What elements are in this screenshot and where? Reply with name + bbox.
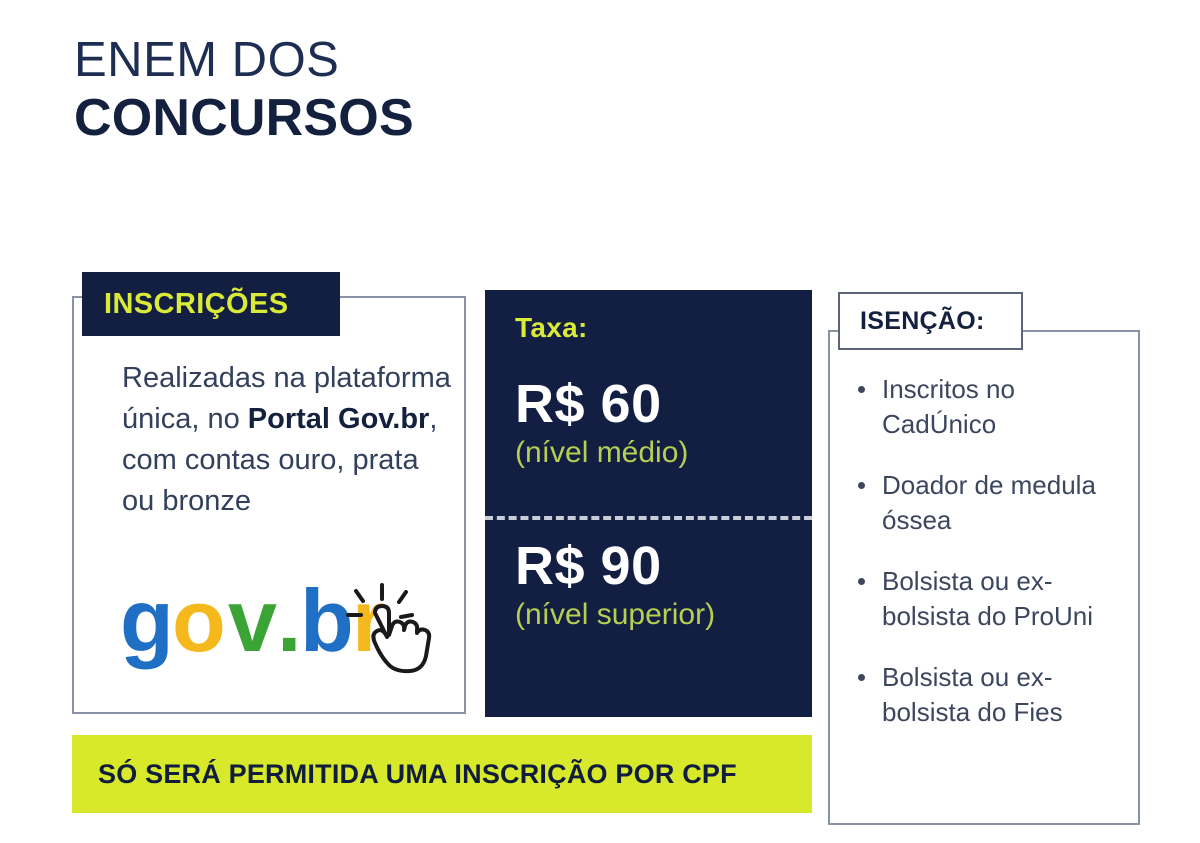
badge-isencao: ISENÇÃO: [838,292,1023,350]
taxa-tier-superior-value: R$ 90 [515,538,715,595]
infographic-page: ENEM DOS CONCURSOS INSCRIÇÕES Realizadas… [0,0,1200,843]
govbr-logo-o: o [172,575,226,670]
list-item: Bolsista ou ex-bolsista do Fies [846,660,1126,730]
govbr-logo-b: b [300,575,354,670]
banner-cpf: SÓ SERÁ PERMITIDA UMA INSCRIÇÃO POR CPF [72,735,812,813]
taxa-tier-medio: R$ 60 (nível médio) [515,376,688,471]
govbr-logo: g o v . b r [120,575,440,675]
govbr-logo-g: g [120,575,174,670]
taxa-tier-superior: R$ 90 (nível superior) [515,538,715,633]
badge-isencao-label: ISENÇÃO: [860,307,985,336]
list-item: Doador de medula óssea [846,468,1126,538]
inscricoes-body-bold: Portal Gov.br [248,403,430,435]
badge-inscricoes-label: INSCRIÇÕES [104,288,288,321]
title-line-2: CONCURSOS [74,92,414,145]
badge-inscricoes: INSCRIÇÕES [82,272,340,336]
inscricoes-body-text: Realizadas na plataforma única, no Porta… [122,358,452,522]
card-taxa: Taxa: R$ 60 (nível médio) R$ 90 (nível s… [485,290,812,717]
taxa-tier-medio-value: R$ 60 [515,376,688,433]
banner-cpf-text: SÓ SERÁ PERMITIDA UMA INSCRIÇÃO POR CPF [98,759,737,790]
page-title: ENEM DOS CONCURSOS [74,36,414,145]
list-item: Inscritos no CadÚnico [846,372,1126,442]
taxa-divider [485,516,812,520]
govbr-logo-v: v [228,575,277,670]
taxa-tier-superior-note: (nível superior) [515,597,715,633]
govbr-logo-dot: . [277,575,301,670]
isencao-list: Inscritos no CadÚnico Doador de medula ó… [846,372,1126,756]
title-line-1: ENEM DOS [74,36,414,86]
taxa-tier-medio-note: (nível médio) [515,435,688,471]
list-item: Bolsista ou ex-bolsista do ProUni [846,564,1126,634]
taxa-label: Taxa: [515,312,588,344]
